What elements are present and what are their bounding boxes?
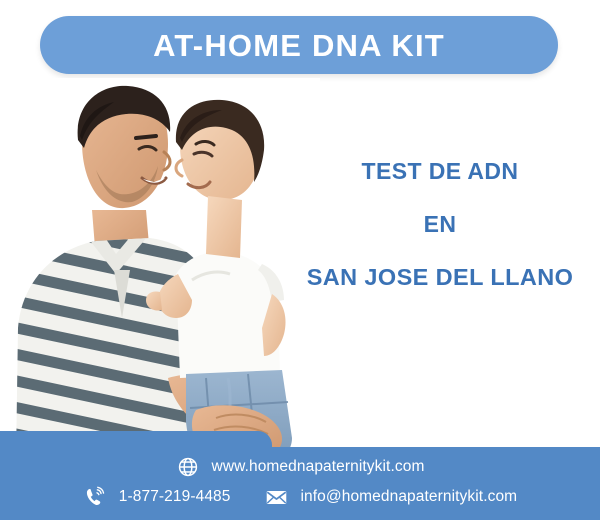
family-photo-illustration: [0, 78, 320, 460]
header-banner: AT-HOME DNA KIT: [40, 16, 558, 74]
website-label: www.homednapaternitykit.com: [212, 458, 425, 476]
globe-icon: [176, 455, 200, 479]
promo-poster: AT-HOME DNA KIT: [0, 0, 600, 520]
footer-contact-bar: www.homednapaternitykit.com 1-877-219-44…: [0, 447, 600, 520]
envelope-icon: [265, 485, 289, 509]
family-photo: [0, 78, 320, 460]
website-contact[interactable]: www.homednapaternitykit.com: [176, 455, 425, 479]
headline-block: TEST DE ADN EN SAN JOSE DEL LLANO: [290, 160, 590, 290]
headline-line-3: SAN JOSE DEL LLANO: [290, 266, 590, 290]
phone-label: 1-877-219-4485: [119, 488, 231, 506]
phone-icon: [83, 485, 107, 509]
headline-line-2: EN: [290, 213, 590, 236]
phone-contact[interactable]: 1-877-219-4485: [83, 485, 231, 509]
email-contact[interactable]: info@homednapaternitykit.com: [265, 485, 518, 509]
headline-line-1: TEST DE ADN: [290, 160, 590, 183]
footer-website-row: www.homednapaternitykit.com: [0, 455, 600, 479]
footer-contact-row: 1-877-219-4485 info@homednapaternitykit.…: [0, 485, 600, 509]
page-title: AT-HOME DNA KIT: [153, 30, 445, 61]
email-label: info@homednapaternitykit.com: [301, 488, 518, 506]
